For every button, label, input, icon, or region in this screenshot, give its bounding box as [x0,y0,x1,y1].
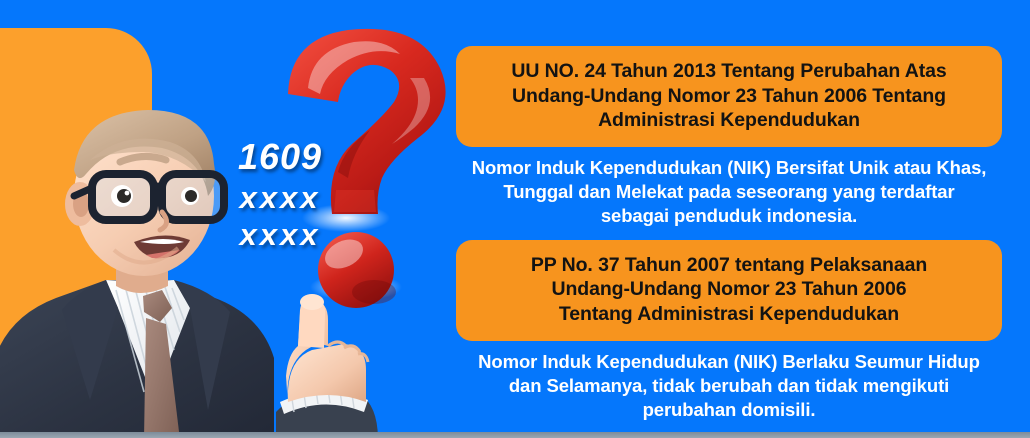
description-nik-seumur-hidup: Nomor Induk Kependudukan (NIK) Berlaku S… [456,341,1002,428]
desc-1-line-2: Tunggal dan Melekat pada seseorang yang … [460,180,998,204]
law-box-2-line-3: Tentang Administrasi Kependudukan [472,302,986,327]
bottom-strip [0,432,1030,438]
question-mark-icon [278,22,468,312]
law-box-2-line-1: PP No. 37 Tahun 2007 tentang Pelaksanaan [472,253,986,278]
desc-2-line-2: dan Selamanya, tidak berubah dan tidak m… [460,374,998,398]
law-box-1-line-1: UU NO. 24 Tahun 2013 Tentang Perubahan A… [472,59,986,84]
spacer [456,234,1002,240]
infographic-slide: 1609 xxxx xxxx UU NO. 24 Tahun 2013 Tent… [0,0,1030,438]
law-box-1-line-2: Undang-Undang Nomor 23 Tahun 2006 Tentan… [472,84,986,109]
desc-2-line-3: perubahan domisili. [460,398,998,422]
law-box-pp-37-2007: PP No. 37 Tahun 2007 tentang Pelaksanaan… [456,240,1002,341]
description-nik-unik: Nomor Induk Kependudukan (NIK) Bersifat … [456,147,1002,234]
desc-1-line-1: Nomor Induk Kependudukan (NIK) Bersifat … [460,156,998,180]
desc-2-line-1: Nomor Induk Kependudukan (NIK) Berlaku S… [460,350,998,374]
law-box-uu-24-2013: UU NO. 24 Tahun 2013 Tentang Perubahan A… [456,46,1002,147]
desc-1-line-3: sebagai penduduk indonesia. [460,204,998,228]
content-column: UU NO. 24 Tahun 2013 Tentang Perubahan A… [456,46,1002,428]
law-box-1-line-3: Administrasi Kependudukan [472,108,986,133]
law-box-2-line-2: Undang-Undang Nomor 23 Tahun 2006 [472,277,986,302]
